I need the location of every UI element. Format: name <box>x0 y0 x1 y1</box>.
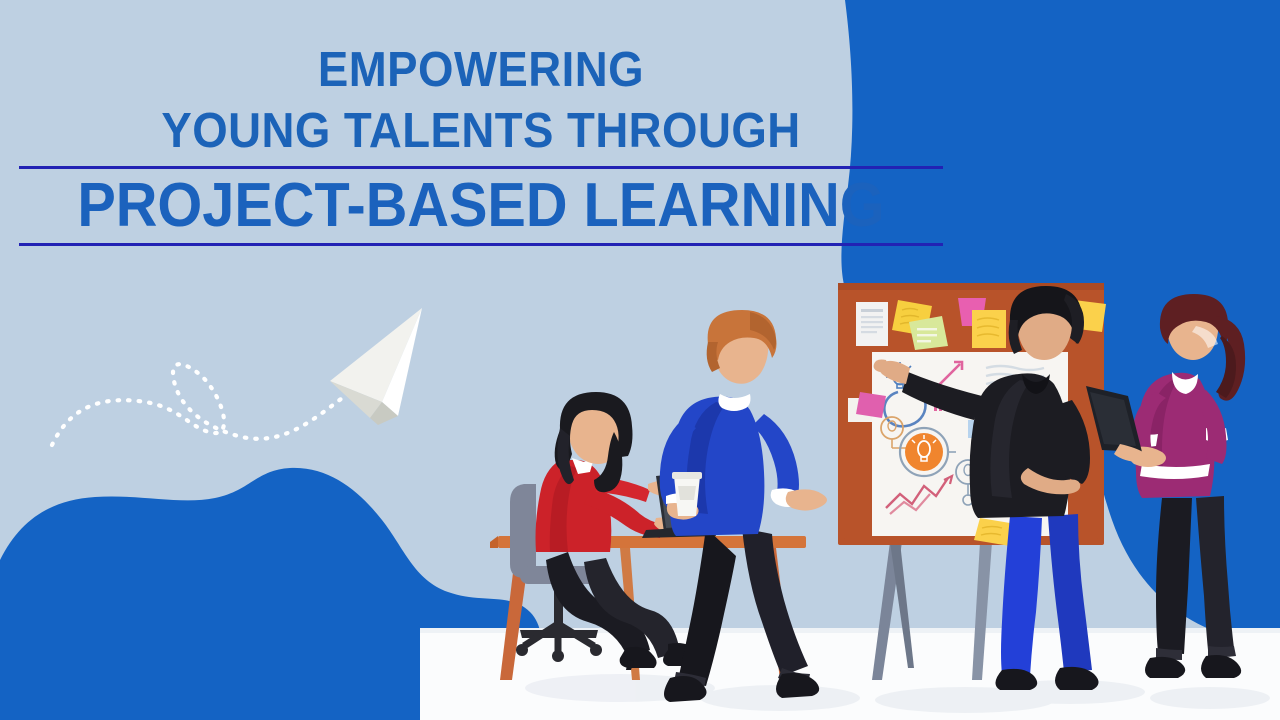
standing-woman-with-tablet <box>1086 294 1245 678</box>
title-block: EMPOWERING YOUNG TALENTS THROUGH PROJECT… <box>0 46 962 246</box>
note-green-1 <box>909 316 948 350</box>
man-leaning-on-desk-with-coffee <box>660 310 827 702</box>
slide-root: EMPOWERING YOUNG TALENTS THROUGH PROJECT… <box>0 0 1280 720</box>
airplane-trail-dashed <box>52 364 382 445</box>
lightbulb-icon-orange-circle <box>900 428 948 476</box>
title-line-1: EMPOWERING <box>34 46 929 107</box>
team-collaboration-illustration <box>420 280 1280 720</box>
paper-airplane-icon <box>330 308 422 425</box>
note-paper-lined <box>856 302 888 346</box>
note-yellow-2 <box>972 310 1006 348</box>
title-rule-bottom <box>19 243 943 246</box>
easel-legs <box>872 542 992 680</box>
paper-airplane-group <box>30 295 450 485</box>
title-line-3: PROJECT-BASED LEARNING <box>34 169 929 241</box>
title-line-2: YOUNG TALENTS THROUGH <box>34 107 929 162</box>
